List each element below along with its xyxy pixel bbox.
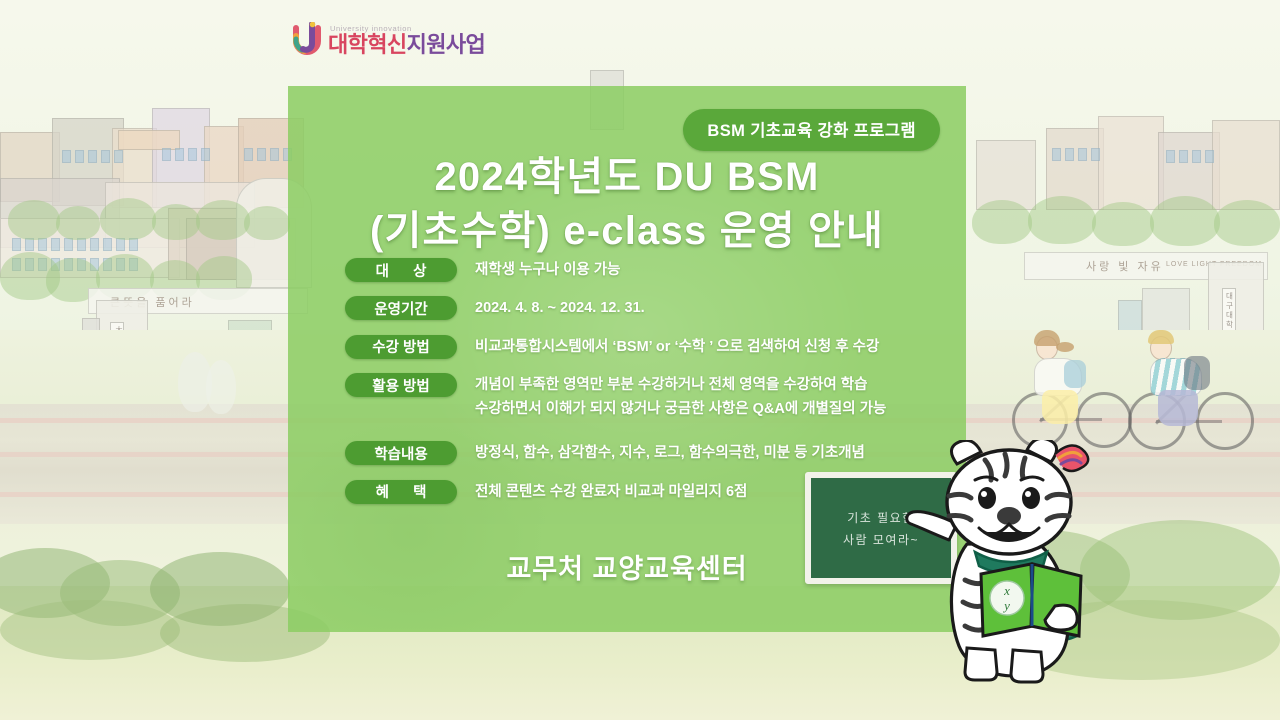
university-innovation-logo: University innovation 대학혁신지원사업 bbox=[292, 16, 485, 56]
window bbox=[201, 148, 210, 161]
value-usage-method: 개념이 부족한 영역만 부분 수강하거나 전체 영역을 수강하여 학습 수강하면… bbox=[475, 373, 886, 421]
svg-text:y: y bbox=[1002, 598, 1010, 613]
value-benefit: 전체 콘텐츠 수강 완료자 비교과 마일리지 6점 bbox=[475, 480, 747, 504]
building-far-6 bbox=[118, 130, 180, 150]
cyclist-legs bbox=[1042, 390, 1078, 424]
logo-korean-part2: 지원사업 bbox=[407, 32, 486, 57]
building-right-4 bbox=[1212, 120, 1280, 210]
window bbox=[38, 238, 47, 251]
window bbox=[1192, 150, 1201, 163]
window bbox=[62, 150, 71, 163]
window bbox=[88, 150, 97, 163]
window bbox=[90, 238, 99, 251]
logo-text-block: University innovation 대학혁신지원사업 bbox=[328, 24, 485, 56]
tree bbox=[1214, 200, 1280, 246]
cyclist-front bbox=[1010, 318, 1140, 458]
cyclist-backpack bbox=[1184, 356, 1210, 390]
tree bbox=[244, 206, 290, 240]
tree bbox=[56, 206, 100, 240]
cyclist-hair bbox=[1148, 330, 1174, 344]
window bbox=[103, 238, 112, 251]
tree bbox=[8, 200, 60, 240]
value-curriculum: 방정식, 함수, 삼각함수, 지수, 로그, 함수의극한, 미분 등 기초개념 bbox=[475, 441, 865, 465]
window bbox=[101, 150, 110, 163]
tree bbox=[196, 200, 250, 240]
tree bbox=[1150, 196, 1220, 246]
info-row-target: 대 상 재학생 누구나 이용 가능 bbox=[345, 258, 948, 282]
window bbox=[257, 148, 266, 161]
window bbox=[188, 148, 197, 161]
value-period: 2024. 4. 8. ~ 2024. 12. 31. bbox=[475, 296, 645, 320]
info-row-usage-method: 활용 방법 개념이 부족한 영역만 부분 수강하거나 전체 영역을 수강하여 학… bbox=[345, 373, 948, 421]
cyclist-backpack bbox=[1064, 360, 1086, 388]
logo-mark-icon bbox=[292, 22, 322, 56]
label-pill-target: 대 상 bbox=[345, 258, 457, 282]
window bbox=[1091, 148, 1100, 161]
white-tiger-mascot: x y bbox=[905, 440, 1120, 690]
window bbox=[114, 150, 123, 163]
title-line-1: 2024학년도 DU BSM bbox=[288, 150, 966, 204]
poster-canvas: 큰뜻을 품어라 大邱大學校 사랑 빛 자유 LOVE LIGHT FREEDOM… bbox=[0, 0, 1280, 720]
window bbox=[1166, 150, 1175, 163]
label-pill-benefit: 혜 택 bbox=[345, 480, 457, 504]
right-gate-text-kr: 사랑 빛 자유 bbox=[1086, 258, 1164, 274]
window bbox=[244, 148, 253, 161]
tree bbox=[1092, 202, 1154, 246]
window bbox=[12, 238, 21, 251]
tree bbox=[972, 200, 1032, 244]
cyclist-ponytail bbox=[1056, 342, 1074, 352]
shrub bbox=[0, 600, 180, 660]
window bbox=[51, 238, 60, 251]
window bbox=[175, 148, 184, 161]
value-enrollment-method: 비교과통합시스템에서 ‘BSM’ or ‘수학 ’ 으로 검색하여 신청 후 수… bbox=[475, 335, 879, 359]
title-line-2: (기초수학) e-class 운영 안내 bbox=[288, 204, 966, 258]
tree bbox=[1028, 196, 1096, 244]
info-row-period: 운영기간 2024. 4. 8. ~ 2024. 12. 31. bbox=[345, 296, 948, 320]
logo-korean-part1: 대학혁신 bbox=[328, 32, 407, 57]
poster-title: 2024학년도 DU BSM (기초수학) e-class 운영 안내 bbox=[288, 150, 966, 259]
label-pill-usage-method: 활용 방법 bbox=[345, 373, 457, 397]
cyclist-hair bbox=[1034, 330, 1060, 346]
window bbox=[270, 148, 279, 161]
window bbox=[1179, 150, 1188, 163]
tree bbox=[206, 360, 236, 414]
logo-korean-text: 대학혁신지원사업 bbox=[328, 34, 485, 56]
window-row-7 bbox=[1166, 150, 1216, 163]
value-target: 재학생 누구나 이용 가능 bbox=[475, 258, 621, 282]
cyclist-back bbox=[1128, 320, 1258, 460]
info-row-curriculum: 학습내용 방정식, 함수, 삼각함수, 지수, 로그, 함수의극한, 미분 등 … bbox=[345, 441, 948, 465]
program-badge: BSM 기초교육 강화 프로그램 bbox=[683, 109, 940, 151]
window bbox=[1052, 148, 1061, 161]
label-pill-enrollment-method: 수강 방법 bbox=[345, 335, 457, 359]
info-row-enrollment-method: 수강 방법 비교과통합시스템에서 ‘BSM’ or ‘수학 ’ 으로 검색하여 … bbox=[345, 335, 948, 359]
window bbox=[1065, 148, 1074, 161]
tree bbox=[100, 198, 156, 240]
building-right-2 bbox=[1098, 116, 1164, 210]
window bbox=[75, 150, 84, 163]
label-pill-period: 운영기간 bbox=[345, 296, 457, 320]
window bbox=[1078, 148, 1087, 161]
cyclist-legs bbox=[1158, 390, 1198, 426]
window bbox=[162, 148, 171, 161]
window bbox=[64, 238, 73, 251]
window bbox=[1205, 150, 1214, 163]
svg-text:x: x bbox=[1003, 583, 1010, 598]
tree bbox=[152, 204, 200, 240]
label-pill-curriculum: 학습내용 bbox=[345, 441, 457, 465]
